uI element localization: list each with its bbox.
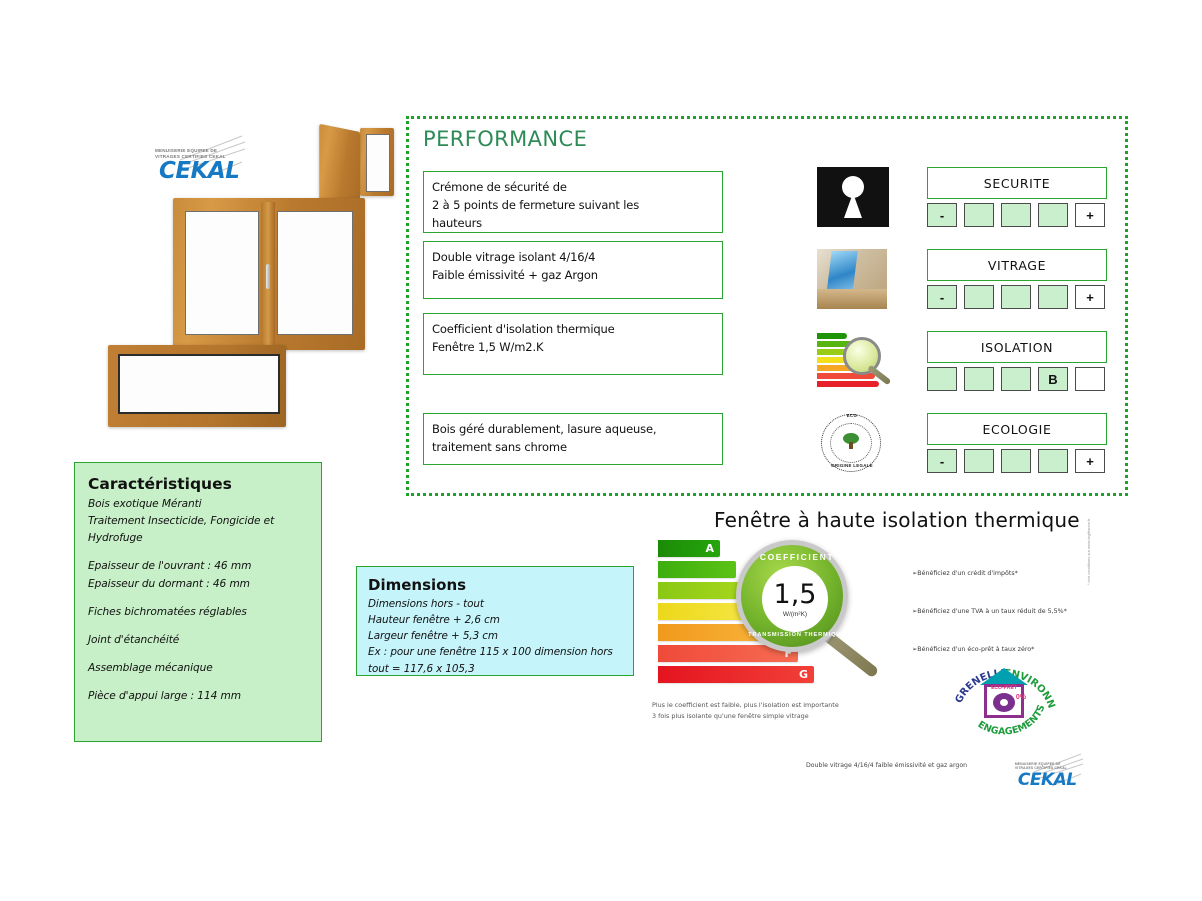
dimensions-panel: Dimensions Dimensions hors - tout Hauteu… xyxy=(356,566,634,676)
eco-pret-label: ECO-PRÊT xyxy=(988,685,1020,691)
magnifier-lens: COEFFICIENT 1,5 W/(m²K) TRANSMISSION THE… xyxy=(736,540,848,652)
rating-cell[interactable]: + xyxy=(1075,203,1105,227)
keyhole-icon xyxy=(817,167,895,229)
eco-stamp-icon: ECO ORIGINE LEGALE xyxy=(817,413,895,475)
dimensions-title: Dimensions xyxy=(368,576,622,594)
dimensions-line: Hauteur fenêtre + 2,6 cm xyxy=(368,612,622,628)
dimensions-line: Ex : pour une fenêtre 115 x 100 dimensio… xyxy=(368,644,622,660)
legal-side-note: * voir conditions sur www.legifrance.fr xyxy=(1086,495,1098,585)
energy-magnifier-icon xyxy=(817,331,895,393)
spacer xyxy=(88,677,308,688)
magnifier-bottom-text: TRANSMISSION THERMIQUE xyxy=(741,632,853,638)
cekal-wordmark: CEKAL xyxy=(1018,770,1077,790)
page-title-vertical: FENETRES ISOLANTE MT 46 MM xyxy=(0,0,4,140)
rating-cell[interactable]: + xyxy=(1075,449,1105,473)
dimensions-line: Dimensions hors - tout xyxy=(368,596,622,612)
cekal-glazing-note: Double vitrage 4/16/4 faible émissivité … xyxy=(806,762,967,769)
dimensions-line: Largeur fenêtre + 5,3 cm xyxy=(368,628,622,644)
spacer xyxy=(88,649,308,660)
rating-scale-ecologie: - + xyxy=(927,449,1105,475)
eco-pret-house-icon: ECO-PRÊT 0% xyxy=(980,668,1028,718)
carac-line: Hydrofuge xyxy=(88,530,308,547)
carac-line: Traitement Insecticide, Fongicide et xyxy=(88,513,308,530)
carac-line: Pièce d'appui large : 114 mm xyxy=(88,688,308,705)
rating-cell[interactable] xyxy=(1038,285,1068,309)
eco-stamp-top-text: ECO xyxy=(817,413,887,418)
caracteristiques-title: Caractéristiques xyxy=(88,475,308,493)
rating-cell[interactable] xyxy=(1001,203,1031,227)
rating-cell[interactable] xyxy=(1075,367,1105,391)
feature-box-bois: Bois géré durablement, lasure aqueuse, t… xyxy=(423,413,723,465)
dimensions-line: tout = 117,6 x 105,3 xyxy=(368,661,622,677)
rating-cell[interactable] xyxy=(964,449,994,473)
cekal-logo-top: MENUISERIE EQUIPEE DE VITRAGES CERTIFIES… xyxy=(146,134,246,186)
energy-note: Plus le coefficient est faible, plus l'i… xyxy=(652,700,902,722)
rating-label-vitrage: VITRAGE xyxy=(927,249,1107,281)
rating-cell[interactable] xyxy=(964,285,994,309)
glazing-icon xyxy=(817,249,895,311)
rating-cell[interactable] xyxy=(1038,203,1068,227)
rating-cell[interactable] xyxy=(964,367,994,391)
rating-cell[interactable] xyxy=(1001,367,1031,391)
rating-row-vitrage: VITRAGE - + xyxy=(817,249,1107,325)
cekal-logo-bottom: MENUISERIE EQUIPEE DE VITRAGES CERTIFIES… xyxy=(1008,752,1084,792)
magnifier-top-text: COEFFICIENT xyxy=(741,552,853,562)
performance-title: PERFORMANCE xyxy=(423,127,587,151)
rating-row-isolation: ISOLATION B xyxy=(817,331,1107,407)
spacer xyxy=(88,593,308,604)
eco-pret-percent: 0% xyxy=(1016,694,1026,701)
carac-line: Bois exotique Méranti xyxy=(88,496,308,513)
coefficient-magnifier: COEFFICIENT 1,5 W/(m²K) TRANSMISSION THE… xyxy=(736,540,876,680)
rating-cell-current[interactable]: B xyxy=(1038,367,1068,391)
feature-box-vitrage: Double vitrage isolant 4/16/4 Faible émi… xyxy=(423,241,723,299)
carac-line: Epaisseur de l'ouvrant : 46 mm xyxy=(88,558,308,575)
spacer xyxy=(88,547,308,558)
energy-class-label-a: A xyxy=(705,540,714,557)
carac-line: Epaisseur du dormant : 46 mm xyxy=(88,576,308,593)
carac-line: Joint d'étanchéité xyxy=(88,632,308,649)
coefficient-unit: W/(m²K) xyxy=(783,611,807,618)
rating-row-ecologie: ECO ORIGINE LEGALE ECOLOGIE - + xyxy=(817,413,1107,489)
rating-label-ecologie: ECOLOGIE xyxy=(927,413,1107,445)
rating-cell[interactable] xyxy=(964,203,994,227)
caracteristiques-panel: Caractéristiques Bois exotique Méranti T… xyxy=(74,462,322,742)
feature-box-cremone: Crémone de sécurité de 2 à 5 points de f… xyxy=(423,171,723,233)
rating-label-isolation: ISOLATION xyxy=(927,331,1107,363)
document-page: FENETRES ISOLANTE MT 46 MM MENUISERIE EQ… xyxy=(0,0,1202,901)
energy-note-line: 3 fois plus isolante qu'une fenêtre simp… xyxy=(652,711,902,722)
window-transom-image xyxy=(108,345,286,427)
rating-cell[interactable] xyxy=(1001,449,1031,473)
cekal-wordmark: CEKAL xyxy=(159,158,239,184)
rating-label-securite: SECURITE xyxy=(927,167,1107,199)
rating-scale-isolation: B xyxy=(927,367,1105,393)
carac-line: Assemblage mécanique xyxy=(88,660,308,677)
rating-cell[interactable]: - xyxy=(927,203,957,227)
rating-cell[interactable]: - xyxy=(927,449,957,473)
rating-row-securite: SECURITE - + xyxy=(817,167,1107,243)
carac-line: Fiches bichromatées réglables xyxy=(88,604,308,621)
spacer xyxy=(88,621,308,632)
benefit-item: ➢Bénéficiez d'un crédit d'impôts* xyxy=(912,570,1102,579)
rating-cell[interactable]: - xyxy=(927,285,957,309)
performance-panel: PERFORMANCE Crémone de sécurité de 2 à 5… xyxy=(406,116,1128,496)
coefficient-value: 1,5 xyxy=(774,581,817,608)
rating-cell[interactable] xyxy=(1001,285,1031,309)
rating-scale-securite: - + xyxy=(927,203,1105,229)
rating-cell[interactable] xyxy=(1038,449,1068,473)
promo-title: Fenêtre à haute isolation thermique xyxy=(714,508,1074,532)
grenelle-environnement-logo: GRENELLE ENVIRONNEMENT ENGAGEMENTS ECO-P… xyxy=(952,650,1056,738)
rating-scale-vitrage: - + xyxy=(927,285,1105,311)
eco-stamp-bottom-text: ORIGINE LEGALE xyxy=(817,463,887,468)
magnifier-value-disc: 1,5 W/(m²K) xyxy=(762,566,828,632)
rating-cell[interactable] xyxy=(927,367,957,391)
window-double-sash-image xyxy=(173,198,365,350)
rating-cell[interactable]: + xyxy=(1075,285,1105,309)
feature-box-coefficient: Coefficient d'isolation thermique Fenêtr… xyxy=(423,313,723,375)
energy-note-line: Plus le coefficient est faible, plus l'i… xyxy=(652,700,902,711)
benefit-item: ➢Bénéficiez d'une TVA à un taux réduit d… xyxy=(912,608,1102,617)
